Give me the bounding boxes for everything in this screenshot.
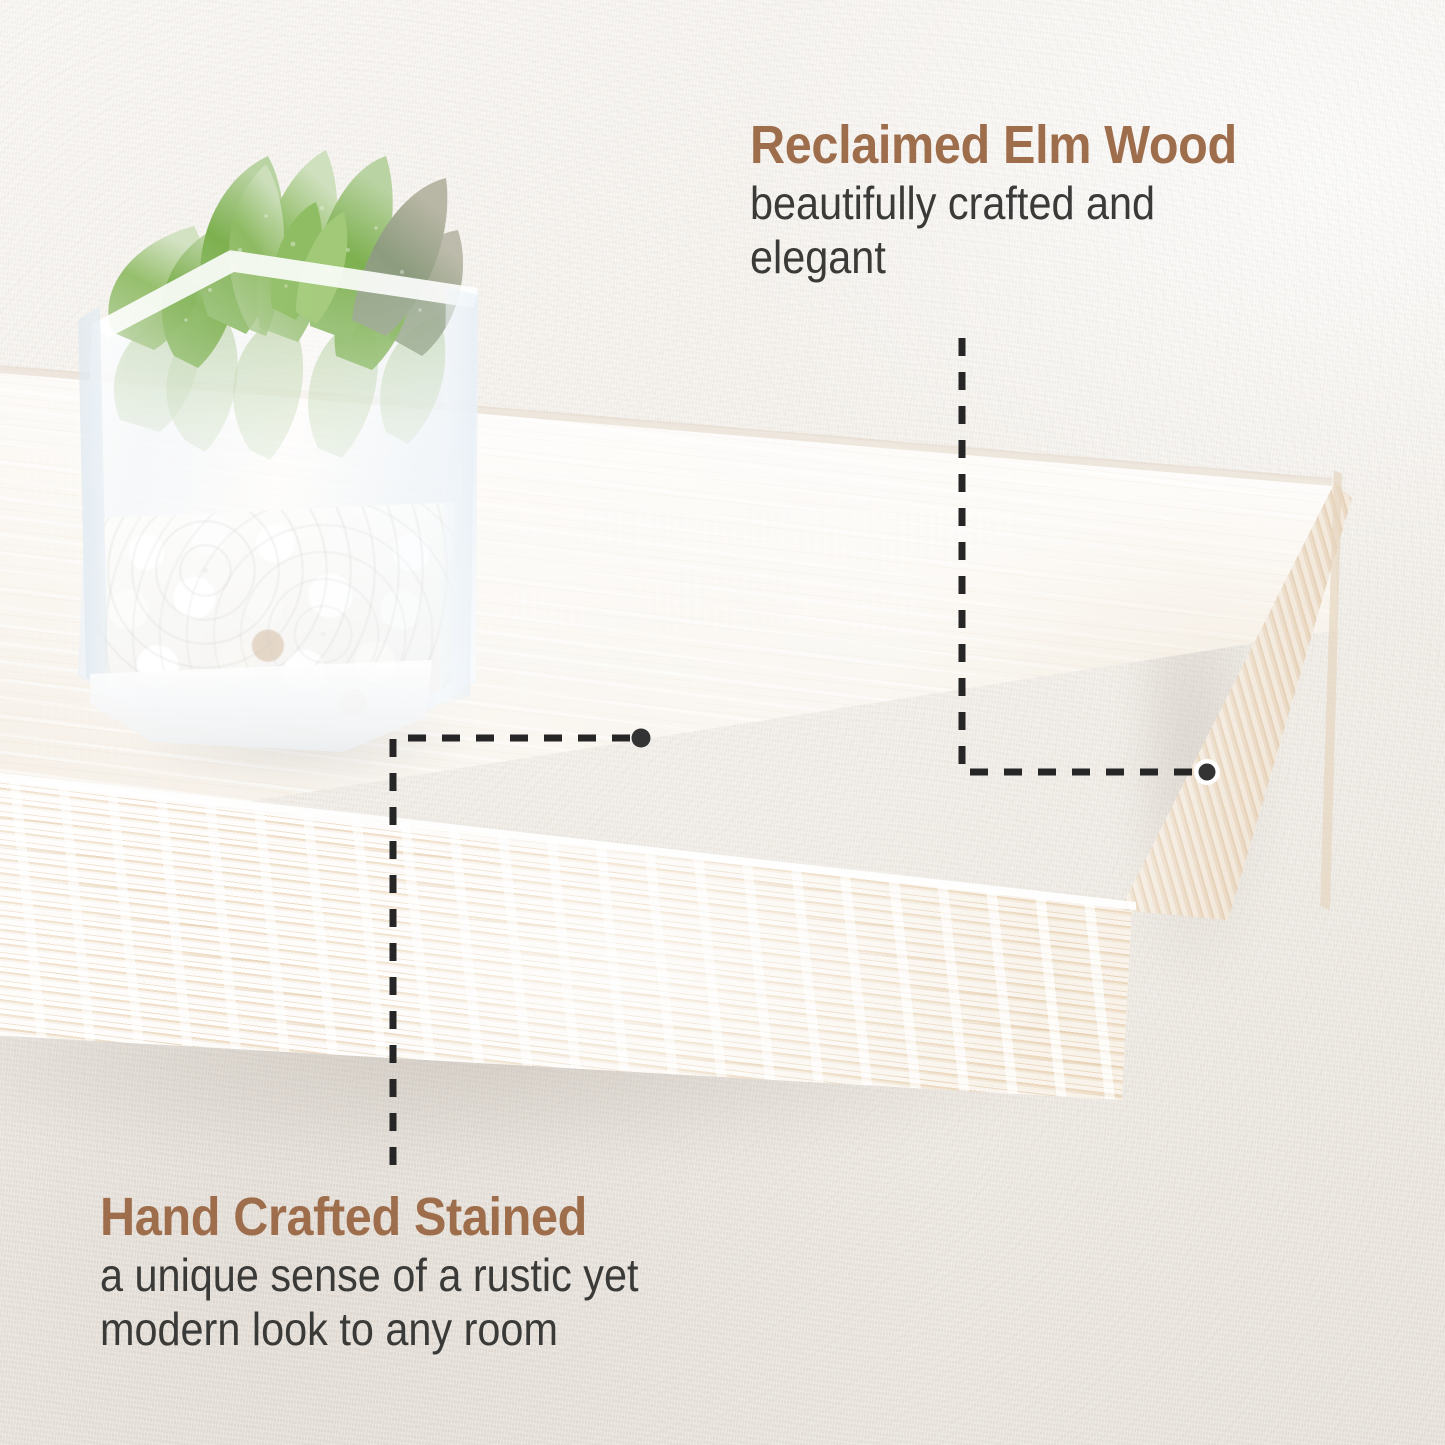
callout-heading-hand-crafted-stained: Hand Crafted Stained [100, 1190, 856, 1244]
callout-text-reclaimed-elm-wood: Reclaimed Elm Wood beautifully crafted a… [750, 118, 1445, 283]
callout-dot-hand-crafted-stained [632, 729, 651, 748]
infographic-canvas: Reclaimed Elm Wood beautifully crafted a… [0, 0, 1445, 1445]
callout-body-line-1: beautifully crafted and [750, 178, 1445, 230]
callout-body-line-2: elegant [750, 232, 1445, 284]
callout-line-hand-crafted-stained [393, 738, 630, 1175]
callout-body-line-2-bottom: modern look to any room [100, 1304, 856, 1356]
callout-heading-reclaimed-elm-wood: Reclaimed Elm Wood [750, 118, 1445, 172]
callout-text-hand-crafted-stained: Hand Crafted Stained a unique sense of a… [100, 1190, 940, 1355]
callout-dot-reclaimed-elm-wood [1199, 764, 1216, 781]
callout-line-reclaimed-elm-wood [962, 338, 1192, 772]
callout-body-line-1-bottom: a unique sense of a rustic yet [100, 1250, 856, 1302]
